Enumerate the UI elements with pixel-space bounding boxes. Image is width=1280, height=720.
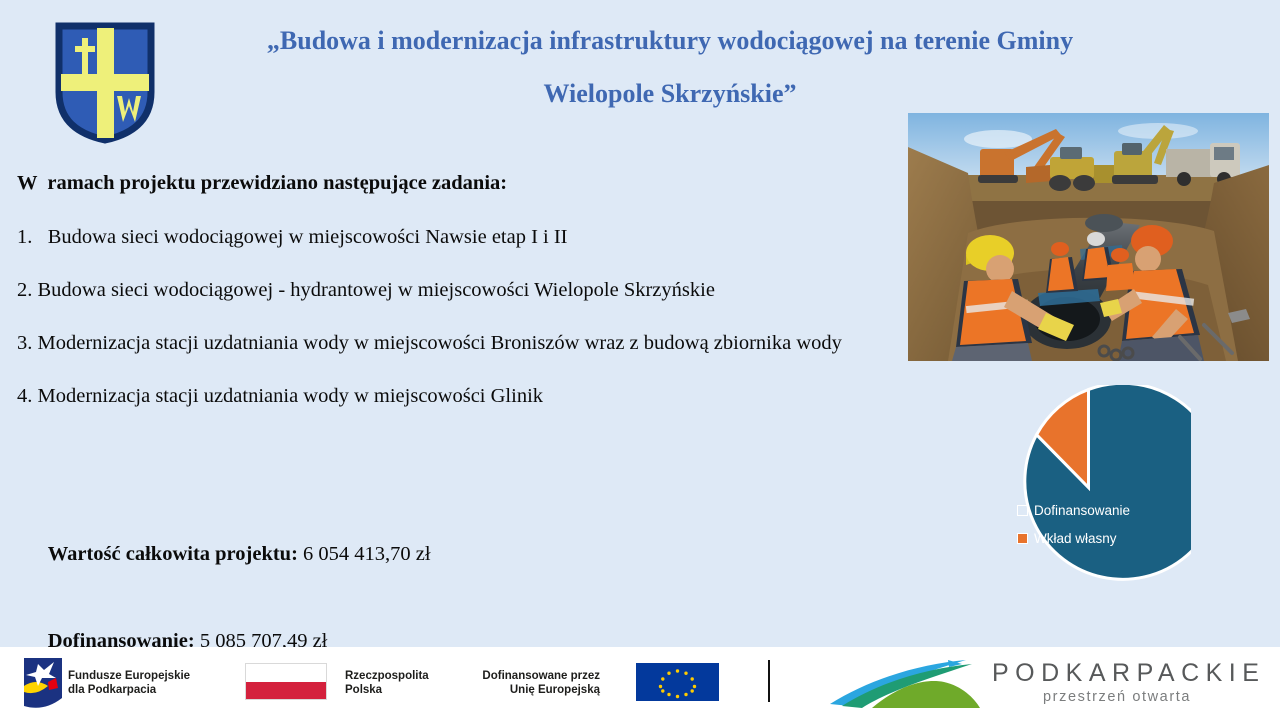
finance-label-total: Wartość całkowita projektu: (48, 543, 298, 565)
task-item-4: 4. Modernizacja stacji uzdatniania wody … (17, 383, 867, 410)
water-pipeline-construction-photo (908, 113, 1269, 361)
tasks-section: W ramach projektu przewidziano następują… (17, 170, 867, 436)
legend-item-dofinansowanie: Dofinansowanie (1017, 503, 1167, 518)
rzeczpospolita-polska-label: Rzeczpospolita Polska (345, 669, 429, 697)
unia-europejska-label: Dofinansowane przez Unię Europejską (440, 669, 600, 697)
fundusze-europejskie-label: Fundusze Europejskie dla Podkarpacia (68, 669, 190, 697)
presentation-slide: „Budowa i modernizacja infrastruktury wo… (0, 0, 1280, 720)
task-item-1: 1. Budowa sieci wodociągowej w miejscowo… (17, 224, 867, 251)
podkarpackie-tagline: przestrzeń otwarta (1043, 689, 1191, 705)
legend-label-wklad-wlasny: Wkład własny (1034, 531, 1117, 546)
legend-label-dofinansowanie: Dofinansowanie (1034, 503, 1130, 518)
footer-logo-bar: Fundusze Europejskie dla Podkarpacia Rze… (0, 647, 1280, 720)
pie-chart-legend: Dofinansowanie Wkład własny (1017, 503, 1167, 559)
task-item-2: 2. Budowa sieci wodociągowej - hydrantow… (17, 277, 867, 304)
poland-flag-icon (245, 663, 327, 700)
pie-chart-svg (986, 385, 1191, 590)
legend-swatch-dofinansowanie (1017, 505, 1028, 516)
legend-swatch-wklad-wlasny (1017, 533, 1028, 544)
finance-value-total: 6 054 413,70 zł (298, 543, 431, 565)
legend-item-wklad-wlasny: Wkład własny (1017, 531, 1167, 546)
tasks-intro: W ramach projektu przewidziano następują… (17, 170, 867, 196)
podkarpackie-swoosh-icon (828, 658, 988, 715)
title-line-1: „Budowa i modernizacja infrastruktury wo… (267, 26, 1073, 55)
podkarpackie-wordmark: PODKARPACKIE (992, 659, 1265, 688)
task-item-3: 3. Modernizacja stacji uzdatniania wody … (17, 330, 867, 357)
poland-flag-white-band (246, 664, 326, 682)
finance-row-total: Wartość całkowita projektu: 6 054 413,70… (17, 511, 431, 598)
page-title: „Budowa i modernizacja infrastruktury wo… (190, 14, 1150, 120)
municipality-coat-of-arms (55, 22, 155, 144)
european-union-flag-icon (636, 663, 719, 701)
poland-flag-red-band (246, 682, 326, 700)
funding-pie-chart: Dofinansowanie Wkład własny (986, 385, 1191, 590)
footer-vertical-divider (768, 660, 770, 702)
fundusze-europejskie-icon (18, 656, 64, 717)
